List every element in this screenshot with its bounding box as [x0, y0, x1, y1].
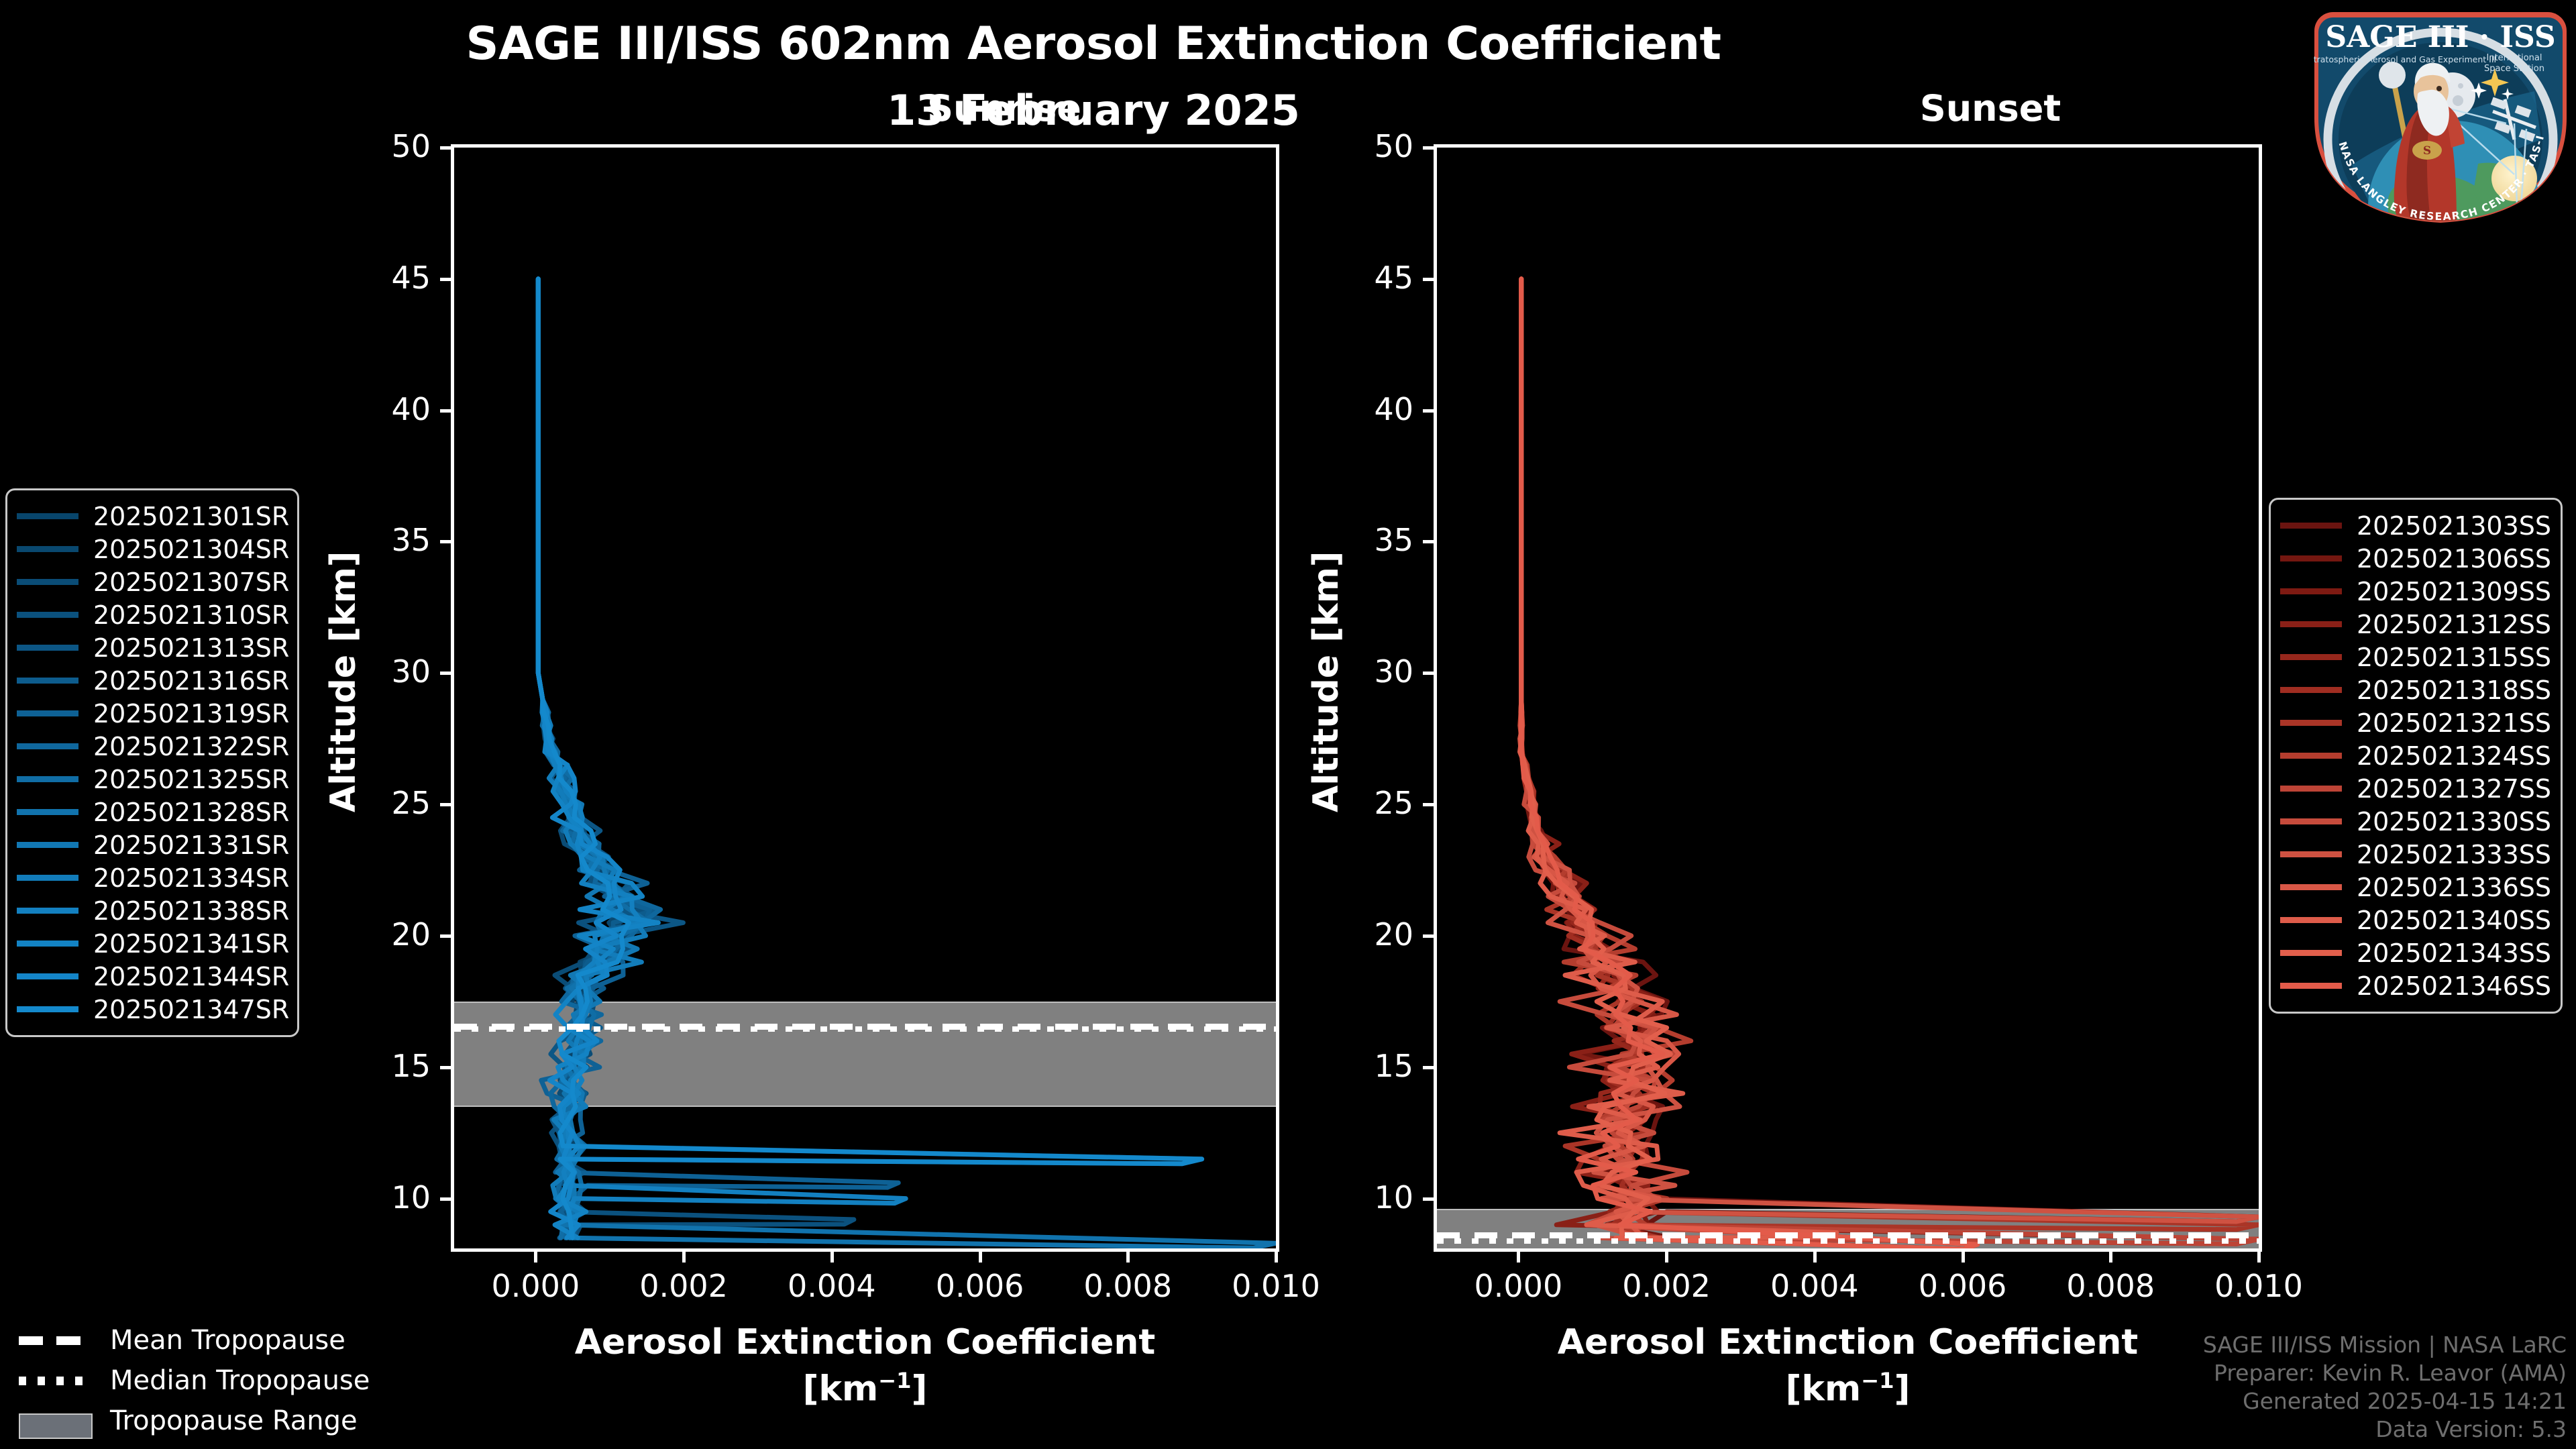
legend-color-swatch: [2280, 786, 2342, 792]
logo-title: SAGE III · ISS: [2325, 20, 2555, 54]
y-tick-mark: [1423, 934, 1434, 938]
legend-item-label: 2025021313SR: [93, 633, 289, 663]
credits-line-4: Data Version: 5.3: [2203, 1415, 2567, 1444]
legend-item-label: 2025021322SR: [93, 732, 289, 761]
x-tick-label: 0.006: [906, 1268, 1054, 1304]
x-tick-label: 0.010: [1202, 1268, 1350, 1304]
x-tick-label: 0.004: [1741, 1268, 1888, 1304]
legend-item[interactable]: 2025021312SS: [2280, 608, 2548, 641]
legend-color-swatch: [2280, 917, 2342, 923]
legend-item[interactable]: 2025021307SR: [17, 566, 285, 598]
y-tick-label: 20: [1333, 916, 1413, 953]
x-tick-label: 0.008: [2037, 1268, 2184, 1304]
y-tick-mark: [1423, 540, 1434, 543]
median-tropopause-dot-icon: [19, 1373, 93, 1388]
logo-subtitle-right-2: Space Station: [2484, 64, 2544, 74]
profile-line: [1520, 279, 1837, 1238]
y-tick-mark: [440, 672, 451, 675]
tropopause-range-label: Tropopause Range: [110, 1405, 358, 1436]
legend-item-label: 2025021336SS: [2357, 873, 2551, 902]
legend-item[interactable]: 2025021336SS: [2280, 871, 2548, 904]
profile-line: [538, 279, 1276, 1248]
sunrise-legend[interactable]: 2025021301SR2025021304SR2025021307SR2025…: [5, 488, 299, 1037]
y-tick-mark: [440, 146, 451, 150]
sunrise-profile-curves: [454, 148, 1276, 1248]
legend-item[interactable]: 2025021316SR: [17, 664, 285, 697]
legend-item[interactable]: 2025021319SR: [17, 697, 285, 730]
median-tropopause-line: [1437, 1238, 2259, 1244]
legend-item[interactable]: 2025021340SS: [2280, 904, 2548, 936]
sunset-legend[interactable]: 2025021303SS2025021306SS2025021309SS2025…: [2269, 498, 2563, 1014]
legend-item[interactable]: 2025021331SR: [17, 828, 285, 861]
x-axis-title: Aerosol Extinction Coefficient: [451, 1322, 1279, 1362]
profile-line: [538, 279, 1201, 1238]
sunset-profile-curves: [1437, 148, 2259, 1248]
legend-color-swatch: [17, 579, 78, 585]
legend-item-label: 2025021315SS: [2357, 643, 2551, 672]
x-tick-label: 0.002: [610, 1268, 757, 1304]
x-tick-mark: [1517, 1252, 1520, 1263]
legend-item-label: 2025021327SS: [2357, 774, 2551, 804]
y-tick-mark: [1423, 672, 1434, 675]
legend-color-swatch: [2280, 950, 2342, 956]
legend-item-label: 2025021306SS: [2357, 544, 2551, 574]
legend-color-swatch: [17, 908, 78, 914]
y-tick-mark: [440, 1197, 451, 1201]
x-axis-units: [km−1]: [451, 1368, 1279, 1409]
legend-color-swatch: [17, 941, 78, 947]
legend-item-label: 2025021312SS: [2357, 610, 2551, 639]
legend-item[interactable]: 2025021334SR: [17, 861, 285, 894]
legend-item[interactable]: 2025021301SR: [17, 500, 285, 533]
x-tick-mark: [2109, 1252, 2112, 1263]
sage-iii-iss-logo: S SAGE III · ISS Stratospheric Aerosol a…: [2313, 5, 2568, 224]
x-tick-mark: [534, 1252, 537, 1263]
legend-color-swatch: [2280, 555, 2342, 561]
x-tick-label: 0.004: [758, 1268, 906, 1304]
x-tick-label: 0.010: [2185, 1268, 2332, 1304]
legend-item-label: 2025021319SR: [93, 699, 289, 729]
legend-item[interactable]: 2025021328SR: [17, 796, 285, 828]
legend-item-label: 2025021338SR: [93, 896, 289, 926]
y-tick-label: 45: [350, 260, 431, 296]
x-tick-label: 0.008: [1054, 1268, 1201, 1304]
legend-color-swatch: [17, 809, 78, 815]
credits-block: SAGE III/ISS Mission | NASA LaRC Prepare…: [2203, 1331, 2567, 1444]
credits-line-3: Generated 2025-04-15 14:21: [2203, 1387, 2567, 1415]
x-axis-units: [km−1]: [1434, 1368, 2262, 1409]
x-tick-mark: [1126, 1252, 1130, 1263]
y-tick-mark: [440, 278, 451, 281]
legend-color-swatch: [2280, 851, 2342, 857]
legend-item[interactable]: 2025021309SS: [2280, 575, 2548, 608]
legend-color-swatch: [2280, 621, 2342, 627]
logo-subtitle-left: Stratospheric Aerosol and Gas Experiment…: [2313, 54, 2496, 64]
legend-item[interactable]: 2025021325SR: [17, 763, 285, 796]
tropopause-mean-key: Mean Tropopause: [19, 1320, 435, 1360]
x-tick-mark: [1275, 1252, 1278, 1263]
legend-item-label: 2025021301SR: [93, 502, 289, 531]
profile-line: [538, 279, 906, 1238]
legend-item-label: 2025021344SR: [93, 962, 289, 991]
y-tick-mark: [440, 803, 451, 806]
x-tick-label: 0.006: [1889, 1268, 2037, 1304]
legend-item[interactable]: 2025021321SS: [2280, 706, 2548, 739]
tropopause-legend: Mean Tropopause Median Tropopause Tropop…: [19, 1320, 435, 1441]
legend-item-label: 2025021343SS: [2357, 938, 2551, 968]
legend-item[interactable]: 2025021346SS: [2280, 969, 2548, 1002]
legend-item-label: 2025021324SS: [2357, 741, 2551, 771]
legend-color-swatch: [17, 546, 78, 552]
legend-item[interactable]: 2025021338SR: [17, 894, 285, 927]
legend-color-swatch: [17, 743, 78, 749]
legend-item-label: 2025021318SS: [2357, 676, 2551, 705]
y-tick-mark: [1423, 278, 1434, 281]
y-tick-label: 40: [1333, 391, 1413, 427]
legend-color-swatch: [2280, 818, 2342, 824]
legend-color-swatch: [17, 513, 78, 519]
legend-item[interactable]: 2025021318SS: [2280, 674, 2548, 706]
legend-color-swatch: [17, 1006, 78, 1012]
legend-color-swatch: [17, 973, 78, 979]
legend-item[interactable]: 2025021324SS: [2280, 739, 2548, 772]
legend-color-swatch: [2280, 687, 2342, 693]
x-tick-mark: [1813, 1252, 1817, 1263]
legend-color-swatch: [2280, 884, 2342, 890]
tropopause-range-key: Tropopause Range: [19, 1401, 435, 1441]
y-tick-mark: [440, 934, 451, 938]
page-title: SAGE III/ISS 602nm Aerosol Extinction Co…: [0, 17, 2187, 70]
legend-item[interactable]: 2025021343SS: [2280, 936, 2548, 969]
legend-item-label: 2025021347SR: [93, 995, 289, 1024]
logo-subtitle-right-1: International: [2487, 53, 2542, 63]
legend-color-swatch: [17, 645, 78, 651]
y-tick-label: 10: [1333, 1179, 1413, 1216]
x-tick-label: 0.000: [1444, 1268, 1592, 1304]
x-axis-title: Aerosol Extinction Coefficient: [1434, 1322, 2262, 1362]
y-tick-label: 40: [350, 391, 431, 427]
legend-color-swatch: [2280, 588, 2342, 594]
x-tick-label: 0.000: [462, 1268, 609, 1304]
y-tick-label: 10: [350, 1179, 431, 1216]
legend-item[interactable]: 2025021347SR: [17, 993, 285, 1026]
legend-item-label: 2025021307SR: [93, 568, 289, 597]
x-tick-label: 0.002: [1593, 1268, 1740, 1304]
legend-item[interactable]: 2025021330SS: [2280, 805, 2548, 838]
legend-item-label: 2025021325SR: [93, 765, 289, 794]
legend-item-label: 2025021328SR: [93, 798, 289, 827]
legend-color-swatch: [17, 710, 78, 716]
legend-color-swatch: [2280, 983, 2342, 989]
legend-item[interactable]: 2025021304SR: [17, 533, 285, 566]
tropopause-median-key: Median Tropopause: [19, 1360, 435, 1401]
x-tick-mark: [682, 1252, 686, 1263]
sunrise-panel-title: Sunrise: [451, 87, 1558, 129]
mission-patch-icon: S SAGE III · ISS Stratospheric Aerosol a…: [2313, 5, 2568, 224]
y-tick-label: 50: [350, 128, 431, 164]
x-tick-mark: [830, 1252, 834, 1263]
legend-color-swatch: [17, 776, 78, 782]
y-tick-mark: [1423, 409, 1434, 413]
credits-line-2: Preparer: Kevin R. Leavor (AMA): [2203, 1359, 2567, 1387]
legend-item-label: 2025021340SS: [2357, 906, 2551, 935]
median-tropopause-label: Median Tropopause: [110, 1365, 370, 1396]
legend-item-label: 2025021331SR: [93, 830, 289, 860]
legend-item-label: 2025021346SS: [2357, 971, 2551, 1001]
y-tick-label: 15: [1333, 1048, 1413, 1084]
legend-item-label: 2025021304SR: [93, 535, 289, 564]
legend-item-label: 2025021341SR: [93, 929, 289, 959]
svg-text:S: S: [2423, 144, 2431, 158]
legend-item-label: 2025021316SR: [93, 666, 289, 696]
y-tick-label: 20: [350, 916, 431, 953]
y-tick-mark: [440, 540, 451, 543]
y-tick-mark: [1423, 803, 1434, 806]
legend-item[interactable]: 2025021303SS: [2280, 509, 2548, 542]
legend-color-swatch: [2280, 720, 2342, 726]
legend-item-label: 2025021309SS: [2357, 577, 2551, 606]
y-tick-mark: [1423, 1197, 1434, 1201]
tropopause-range-patch-icon: [19, 1413, 93, 1428]
mean-tropopause-line: [1437, 1232, 2259, 1238]
legend-color-swatch: [17, 875, 78, 881]
legend-item[interactable]: 2025021315SS: [2280, 641, 2548, 674]
legend-color-swatch: [17, 678, 78, 684]
median-tropopause-line: [454, 1026, 1276, 1032]
legend-item[interactable]: 2025021322SR: [17, 730, 285, 763]
legend-item[interactable]: 2025021313SR: [17, 631, 285, 664]
y-tick-mark: [440, 1066, 451, 1069]
legend-item-label: 2025021330SS: [2357, 807, 2551, 837]
legend-item[interactable]: 2025021327SS: [2280, 772, 2548, 805]
x-tick-mark: [1962, 1252, 1965, 1263]
legend-color-swatch: [2280, 654, 2342, 660]
legend-color-swatch: [17, 612, 78, 618]
profile-line: [538, 279, 898, 1238]
legend-item[interactable]: 2025021333SS: [2280, 838, 2548, 871]
legend-item[interactable]: 2025021306SS: [2280, 542, 2548, 575]
profile-line: [538, 279, 1201, 1238]
y-axis-title: Altitude [km]: [1306, 551, 1346, 812]
y-tick-mark: [440, 409, 451, 413]
y-tick-label: 45: [1333, 260, 1413, 296]
sunrise-plot-area: [451, 144, 1279, 1252]
legend-item[interactable]: 2025021310SR: [17, 598, 285, 631]
legend-color-swatch: [2280, 523, 2342, 529]
legend-color-swatch: [17, 842, 78, 848]
y-tick-mark: [1423, 146, 1434, 150]
legend-item-label: 2025021334SR: [93, 863, 289, 893]
x-tick-mark: [2257, 1252, 2261, 1263]
legend-item[interactable]: 2025021344SR: [17, 960, 285, 993]
credits-line-1: SAGE III/ISS Mission | NASA LaRC: [2203, 1331, 2567, 1359]
y-tick-mark: [1423, 1066, 1434, 1069]
x-tick-mark: [979, 1252, 982, 1263]
legend-item-label: 2025021333SS: [2357, 840, 2551, 869]
x-tick-mark: [1665, 1252, 1668, 1263]
legend-item[interactable]: 2025021341SR: [17, 927, 285, 960]
sunset-plot-area: [1434, 144, 2262, 1252]
legend-item-label: 2025021303SS: [2357, 511, 2551, 541]
y-tick-label: 15: [350, 1048, 431, 1084]
legend-item-label: 2025021310SR: [93, 600, 289, 630]
y-axis-title: Altitude [km]: [323, 551, 364, 812]
y-tick-label: 50: [1333, 128, 1413, 164]
mean-tropopause-dash-icon: [19, 1333, 93, 1348]
mean-tropopause-label: Mean Tropopause: [110, 1325, 345, 1356]
legend-color-swatch: [2280, 753, 2342, 759]
legend-item-label: 2025021321SS: [2357, 708, 2551, 738]
